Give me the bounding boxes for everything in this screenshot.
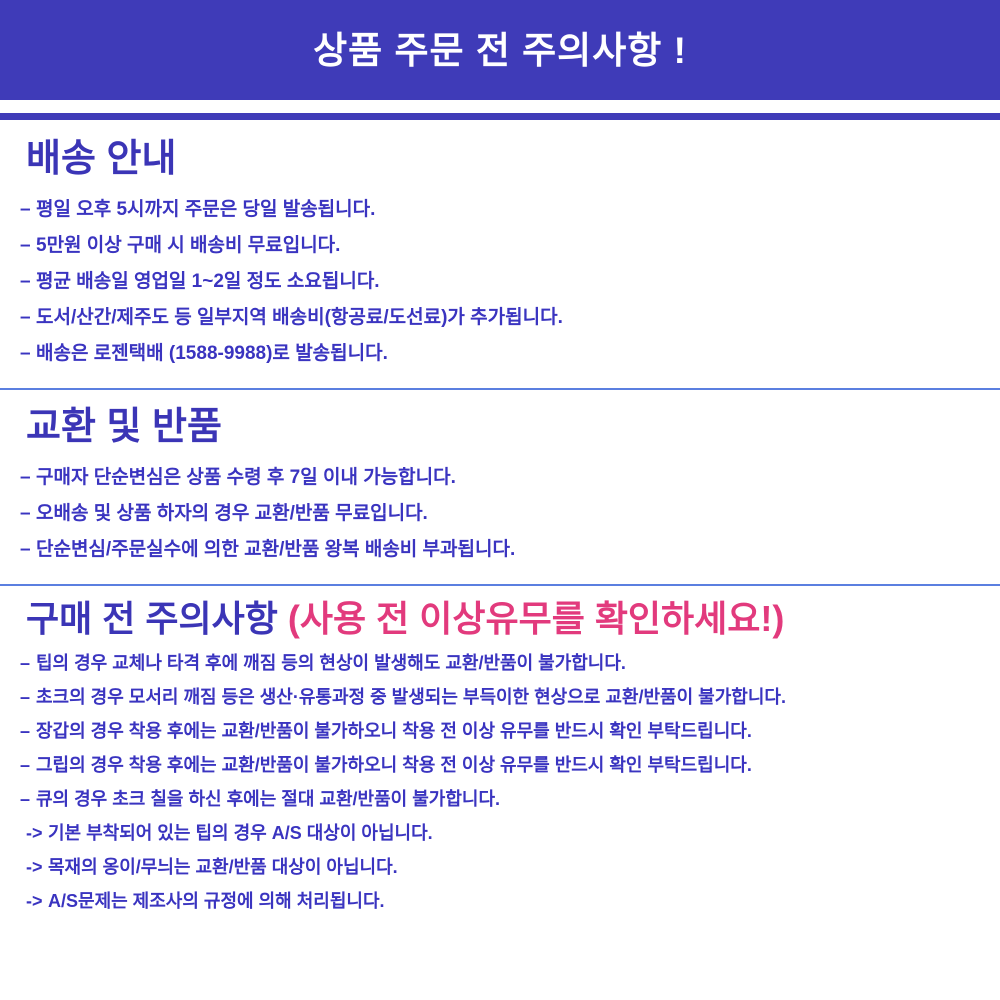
list-item-text: 5만원 이상 구매 시 배송비 무료입니다. — [36, 235, 340, 256]
bullet-dash-icon: – — [20, 532, 36, 568]
bullet-dash-icon: – — [20, 714, 36, 748]
page-title: 상품 주문 전 주의사항 ! — [313, 32, 687, 69]
list-item: –큐의 경우 초크 칠을 하신 후에는 절대 교환/반품이 불가합니다. — [20, 782, 982, 816]
list-item-text: 그립의 경우 착용 후에는 교환/반품이 불가하오니 착용 전 이상 유무를 반… — [36, 755, 752, 775]
list-item: ->A/S문제는 제조사의 규정에 의해 처리됩니다. — [20, 884, 982, 918]
bullet-arrow-icon: -> — [20, 816, 48, 850]
list-item: –팁의 경우 교체나 타격 후에 깨짐 등의 현상이 발생해도 교환/반품이 불… — [20, 646, 982, 680]
bullet-dash-icon: – — [20, 646, 36, 680]
list-item: –구매자 단순변심은 상품 수령 후 7일 이내 가능합니다. — [20, 460, 982, 496]
bullet-dash-icon: – — [20, 336, 36, 372]
header-gap — [0, 100, 1000, 113]
list-item-text: 평균 배송일 영업일 1~2일 정도 소요됩니다. — [36, 271, 380, 292]
bullet-dash-icon: – — [20, 748, 36, 782]
section-exchange-return: 교환 및 반품 –구매자 단순변심은 상품 수령 후 7일 이내 가능합니다. … — [0, 390, 1000, 568]
section-heading-exchange-return: 교환 및 반품 — [20, 390, 982, 448]
list-item-text: 장갑의 경우 착용 후에는 교환/반품이 불가하오니 착용 전 이상 유무를 반… — [36, 721, 752, 741]
list-item-text: 오배송 및 상품 하자의 경우 교환/반품 무료입니다. — [36, 503, 428, 524]
list-item-text: 팁의 경우 교체나 타격 후에 깨짐 등의 현상이 발생해도 교환/반품이 불가… — [36, 653, 626, 673]
list-item: ->목재의 옹이/무늬는 교환/반품 대상이 아닙니다. — [20, 850, 982, 884]
list-item-text: 기본 부착되어 있는 팁의 경우 A/S 대상이 아닙니다. — [48, 823, 433, 843]
bullet-dash-icon: – — [20, 228, 36, 264]
list-item: –오배송 및 상품 하자의 경우 교환/반품 무료입니다. — [20, 496, 982, 532]
list-item-text: 배송은 로젠택배 (1588-9988)로 발송됩니다. — [36, 343, 388, 364]
list-item-text: 구매자 단순변심은 상품 수령 후 7일 이내 가능합니다. — [36, 467, 456, 488]
bullet-arrow-icon: -> — [20, 850, 48, 884]
section-heading-before-purchase: 구매 전 주의사항 (사용 전 이상유무를 확인하세요!) — [20, 586, 982, 638]
bullet-dash-icon: – — [20, 300, 36, 336]
list-item: –평균 배송일 영업일 1~2일 정도 소요됩니다. — [20, 264, 982, 300]
section-before-purchase: 구매 전 주의사항 (사용 전 이상유무를 확인하세요!) –팁의 경우 교체나… — [0, 586, 1000, 918]
list-item-text: 도서/산간/제주도 등 일부지역 배송비(항공료/도선료)가 추가됩니다. — [36, 307, 563, 328]
list-item-text: 큐의 경우 초크 칠을 하신 후에는 절대 교환/반품이 불가합니다. — [36, 789, 500, 809]
list-item: –도서/산간/제주도 등 일부지역 배송비(항공료/도선료)가 추가됩니다. — [20, 300, 982, 336]
page-header: 상품 주문 전 주의사항 ! — [0, 0, 1000, 100]
bullet-dash-icon: – — [20, 782, 36, 816]
list-item-text: 단순변심/주문실수에 의한 교환/반품 왕복 배송비 부과됩니다. — [36, 539, 515, 560]
exchange-return-item-list: –구매자 단순변심은 상품 수령 후 7일 이내 가능합니다. –오배송 및 상… — [20, 448, 982, 568]
bullet-dash-icon: – — [20, 680, 36, 714]
list-item: ->기본 부착되어 있는 팁의 경우 A/S 대상이 아닙니다. — [20, 816, 982, 850]
list-item: –5만원 이상 구매 시 배송비 무료입니다. — [20, 228, 982, 264]
section-heading-accent-text: (사용 전 이상유무를 확인하세요!) — [288, 598, 785, 639]
list-item: –그립의 경우 착용 후에는 교환/반품이 불가하오니 착용 전 이상 유무를 … — [20, 748, 982, 782]
list-item-text: 목재의 옹이/무늬는 교환/반품 대상이 아닙니다. — [48, 857, 398, 877]
bullet-arrow-icon: -> — [20, 884, 48, 918]
shipping-item-list: –평일 오후 5시까지 주문은 당일 발송됩니다. –5만원 이상 구매 시 배… — [20, 180, 982, 372]
bullet-dash-icon: – — [20, 264, 36, 300]
list-item-text: 평일 오후 5시까지 주문은 당일 발송됩니다. — [36, 199, 375, 220]
header-rule — [0, 113, 1000, 120]
bullet-dash-icon: – — [20, 192, 36, 228]
notice-page: 상품 주문 전 주의사항 ! 배송 안내 –평일 오후 5시까지 주문은 당일 … — [0, 0, 1000, 1000]
list-item: –장갑의 경우 착용 후에는 교환/반품이 불가하오니 착용 전 이상 유무를 … — [20, 714, 982, 748]
list-item: –단순변심/주문실수에 의한 교환/반품 왕복 배송비 부과됩니다. — [20, 532, 982, 568]
section-heading-main-text: 구매 전 주의사항 — [26, 598, 288, 639]
list-item: –평일 오후 5시까지 주문은 당일 발송됩니다. — [20, 192, 982, 228]
list-item: –배송은 로젠택배 (1588-9988)로 발송됩니다. — [20, 336, 982, 372]
bullet-dash-icon: – — [20, 460, 36, 496]
list-item-text: A/S문제는 제조사의 규정에 의해 처리됩니다. — [48, 891, 385, 911]
list-item: –초크의 경우 모서리 깨짐 등은 생산·유통과정 중 발생되는 부득이한 현상… — [20, 680, 982, 714]
before-purchase-item-list: –팁의 경우 교체나 타격 후에 깨짐 등의 현상이 발생해도 교환/반품이 불… — [20, 638, 982, 918]
section-shipping: 배송 안내 –평일 오후 5시까지 주문은 당일 발송됩니다. –5만원 이상 … — [0, 120, 1000, 372]
bullet-dash-icon: – — [20, 496, 36, 532]
list-item-text: 초크의 경우 모서리 깨짐 등은 생산·유통과정 중 발생되는 부득이한 현상으… — [36, 687, 786, 707]
section-heading-shipping: 배송 안내 — [20, 120, 982, 180]
